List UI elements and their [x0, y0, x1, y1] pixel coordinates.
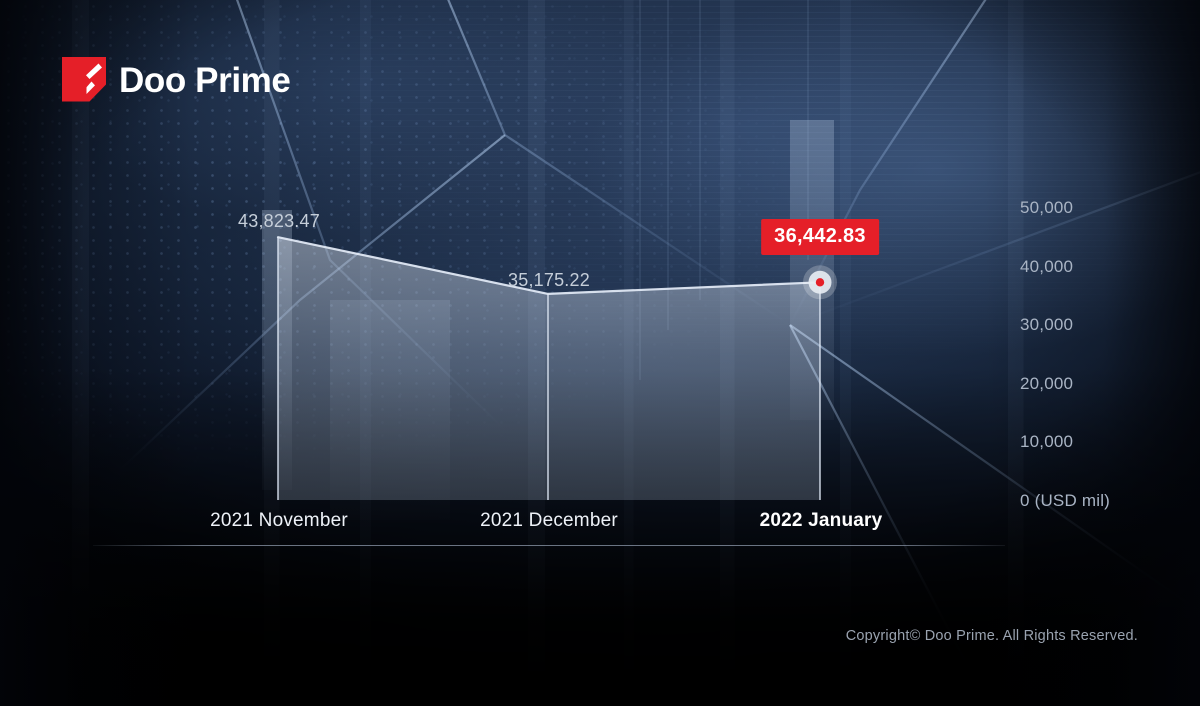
y-tick-label-10000: 10,000	[1020, 432, 1073, 452]
y-tick-label-30000: 30,000	[1020, 315, 1073, 335]
footer-copyright: Copyright© Doo Prime. All Rights Reserve…	[846, 628, 1138, 644]
x-label-2021-december: 2021 December	[480, 510, 618, 532]
y-tick-label-50000: 50,000	[1020, 198, 1073, 218]
y-tick-label-20000: 20,000	[1020, 374, 1073, 394]
x-label-2021-november: 2021 November	[210, 510, 348, 532]
y-tick-label-0: 0 (USD mil)	[1020, 491, 1110, 511]
infographic-canvas: Doo Prime	[0, 0, 1200, 706]
y-tick-label-40000: 40,000	[1020, 257, 1073, 277]
highlight-callout-badge: 36,442.83	[761, 219, 879, 255]
data-label-november: 43,823.47	[238, 211, 320, 232]
x-label-2022-january: 2022 January	[760, 510, 883, 532]
data-label-december: 35,175.22	[508, 270, 590, 291]
chart-highlight-marker	[803, 265, 837, 299]
chart-plot	[0, 0, 1200, 706]
chart-bottom-divider	[93, 545, 1005, 546]
area-chart: 50,000 40,000 30,000 20,000 10,000 0 (US…	[0, 0, 1200, 706]
